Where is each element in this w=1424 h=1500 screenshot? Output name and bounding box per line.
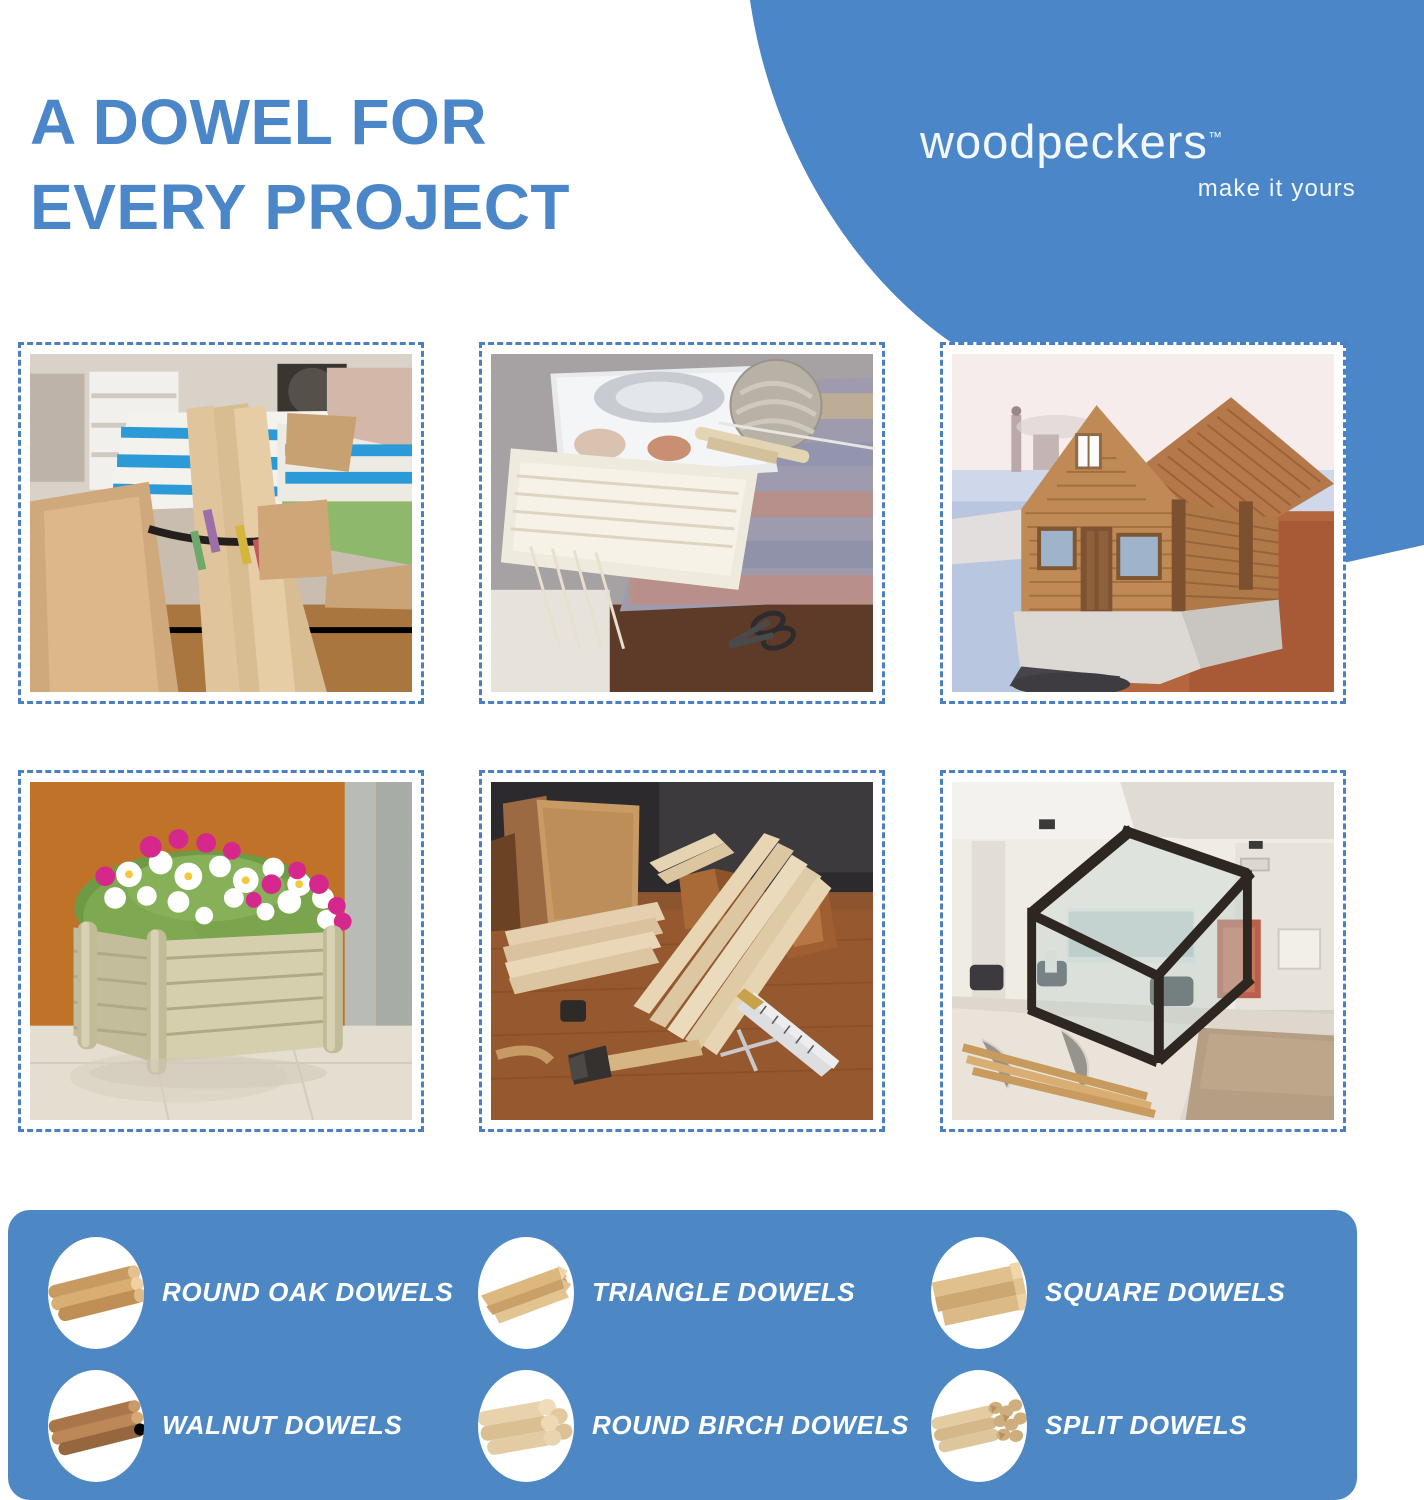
log-cabin-model-photo [952,354,1334,692]
legend-label-triangle-dowels: TRIANGLE DOWELS [592,1277,855,1308]
legend-item-round-birch-dowels[interactable]: ROUND BIRCH DOWELS [456,1359,909,1492]
glass-display-case-photo [952,782,1334,1120]
square-dowels-icon [931,1237,1027,1349]
photo-tile-workshop-dowels [479,770,885,1132]
project-photo-grid [18,342,1408,1132]
legend-item-square-dowels[interactable]: SQUARE DOWELS [909,1226,1339,1359]
brand-wordmark: woodpeckers [920,115,1208,168]
round-oak-dowels-icon [48,1237,144,1349]
workshop-dowel-assortment-photo [491,782,873,1120]
legend-label-round-birch-dowels: ROUND BIRCH DOWELS [592,1410,909,1441]
photo-tile-glass-case [940,770,1346,1132]
headline-line-1: A DOWEL FOR [30,86,487,158]
trademark-symbol: ™ [1208,128,1222,144]
legend-label-walnut-dowels: WALNUT DOWELS [162,1410,402,1441]
dowel-planter-box-photo [30,782,412,1120]
brand-tagline: make it yours [920,175,1360,203]
handwoven-textile-project-photo [491,354,873,692]
walnut-dowels-icon [48,1370,144,1482]
legend-item-round-oak-dowels[interactable]: ROUND OAK DOWELS [26,1226,456,1359]
legend-label-split-dowels: SPLIT DOWELS [1045,1410,1247,1441]
brand-logo: woodpeckers™ make it yours [920,118,1360,203]
photo-tile-log-cabin [940,342,1346,704]
split-dowels-icon [931,1370,1027,1482]
photo-tile-planter-box [18,770,424,1132]
dowel-type-legend-panel: ROUND OAK DOWELS TRIANGLE DOWELS [8,1210,1357,1500]
round-birch-dowels-icon [478,1370,574,1482]
legend-label-square-dowels: SQUARE DOWELS [1045,1277,1285,1308]
legend-item-triangle-dowels[interactable]: TRIANGLE DOWELS [456,1226,909,1359]
page-headline: A DOWEL FOR EVERY PROJECT [30,80,790,250]
photo-tile-handwoven-textile [479,342,885,704]
triangle-dowels-icon [478,1237,574,1349]
legend-item-split-dowels[interactable]: SPLIT DOWELS [909,1359,1339,1492]
legend-item-walnut-dowels[interactable]: WALNUT DOWELS [26,1359,456,1492]
photo-tile-weaving-loom [18,342,424,704]
legend-label-round-oak-dowels: ROUND OAK DOWELS [162,1277,453,1308]
infographic-page: A DOWEL FOR EVERY PROJECT woodpeckers™ m… [0,0,1424,1500]
brand-name: woodpeckers™ [920,118,1222,165]
weaving-loom-with-dowels-photo [30,354,412,692]
headline-line-2: EVERY PROJECT [30,165,790,250]
